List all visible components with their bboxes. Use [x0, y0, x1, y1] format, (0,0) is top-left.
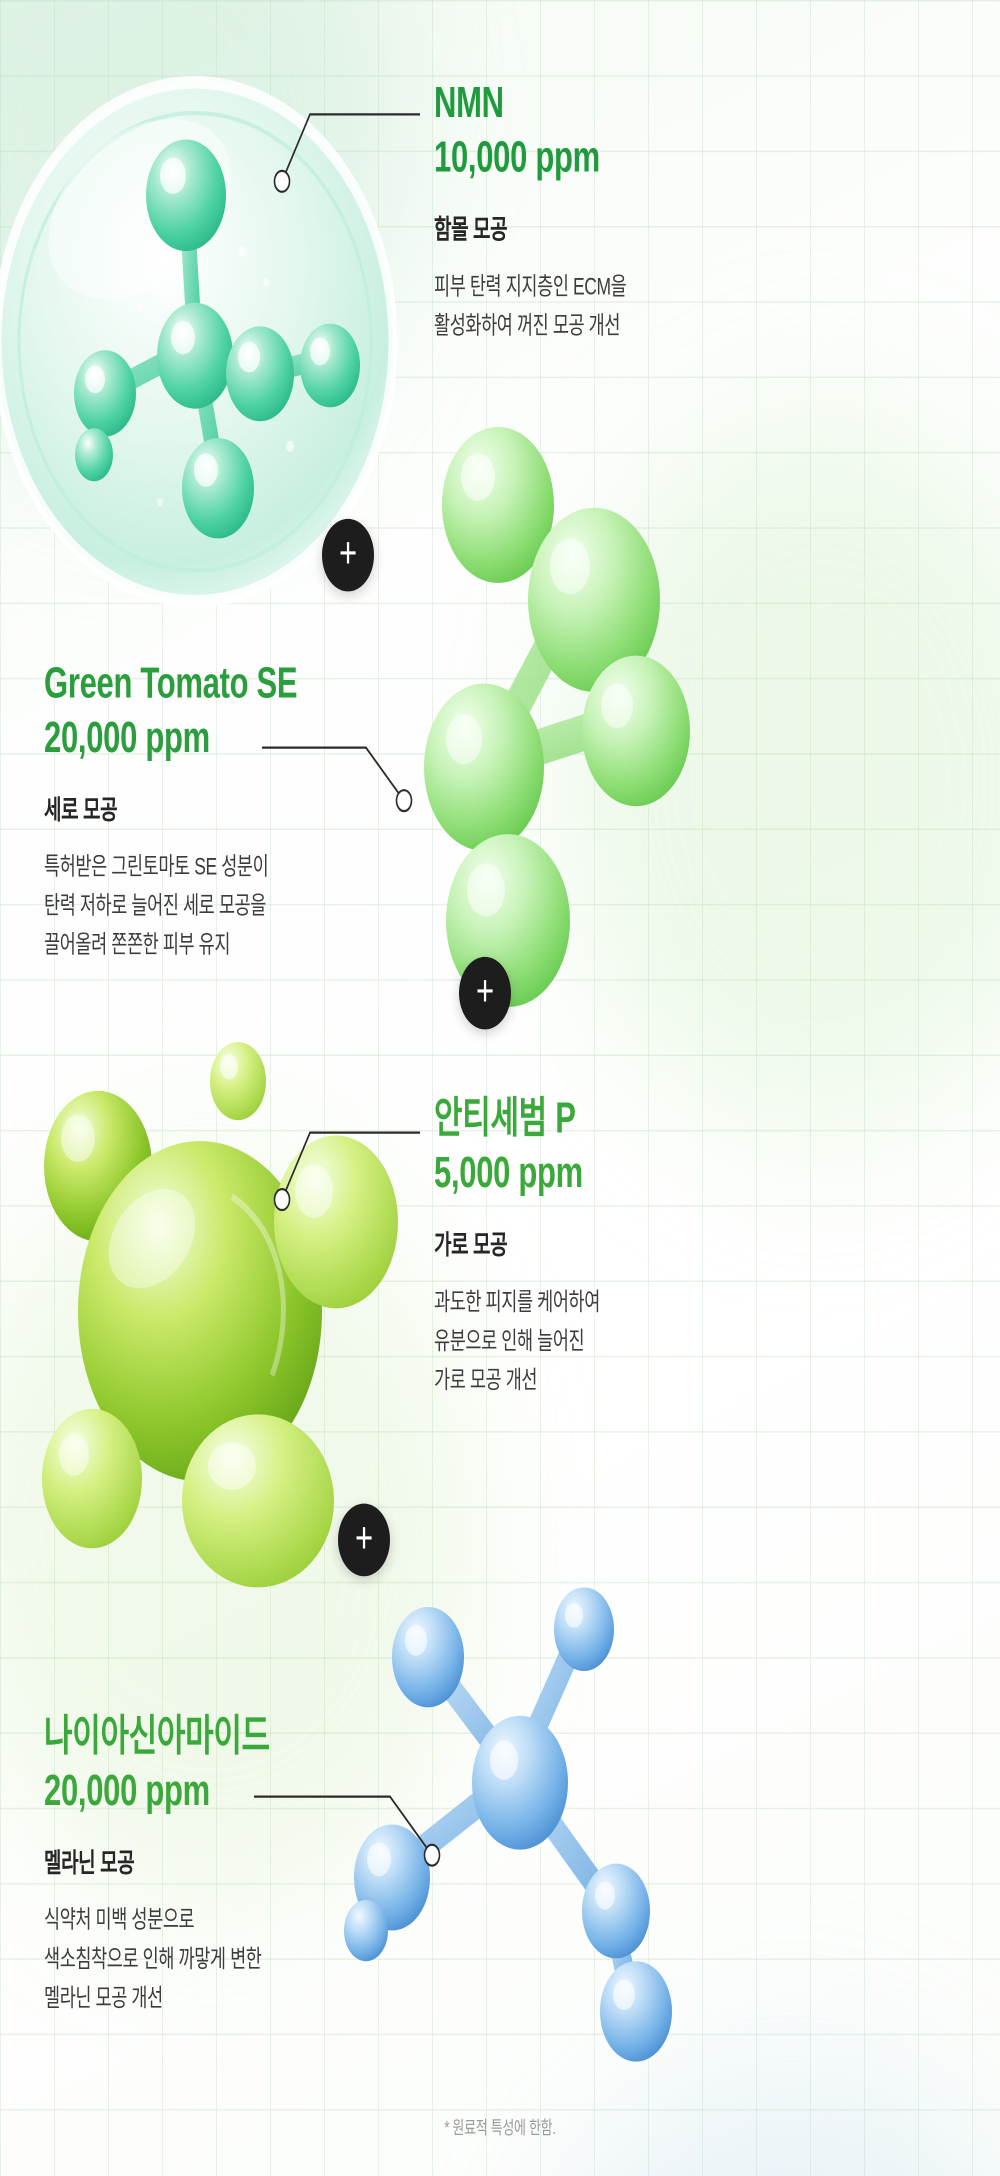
nmn-leader-line	[268, 86, 428, 198]
section-niacinamide-description: 식약처 미백 성분으로 색소침착으로 인해 까맣게 변한 멜라닌 모공 개선	[44, 1900, 424, 2019]
background-wash-top	[0, 0, 400, 446]
section-green-tomato-subtitle: 세로 모공	[44, 795, 404, 829]
plus-divider-1: +	[322, 519, 374, 592]
section-niacinamide-subtitle: 멜라닌 모공	[44, 1848, 424, 1882]
green-tomato-molecule-image	[378, 418, 708, 1032]
background-wash-mid	[560, 418, 1000, 1143]
section-green-tomato-description: 특허받은 그린토마토 SE 성분이 탄력 저하로 늘어진 세로 모공을 끌어올려…	[44, 846, 404, 965]
section-green-tomato-title: Green Tomato SE 20,000 ppm	[44, 656, 404, 765]
section-nmn-title: NMN 10,000 ppm	[434, 75, 764, 184]
infographic-page: NMN 10,000 ppm 함몰 모공 피부 탄력 지지층인 ECM을 활성화…	[0, 0, 1000, 2176]
footnote: * 원료적 특성에 한함.	[0, 2113, 1000, 2140]
section-nmn-subtitle: 함몰 모공	[434, 215, 764, 249]
section-nmn-description: 피부 탄력 지지층인 ECM을 활성화하여 꺼진 모공 개선	[434, 266, 764, 345]
section-niacinamide: 나이아신아마이드 20,000 ppm 멜라닌 모공 식약처 미백 성분으로 색…	[44, 1709, 424, 2018]
section-anti-sebum-description: 과도한 피지를 케어하여 유분으로 인해 늘어진 가로 모공 개선	[434, 1282, 774, 1401]
section-anti-sebum-title: 안티세범 P 5,000 ppm	[434, 1091, 774, 1200]
section-green-tomato: Green Tomato SE 20,000 ppm 세로 모공 특허받은 그린…	[44, 656, 404, 965]
plus-icon: +	[355, 1516, 373, 1559]
plus-divider-3: +	[338, 1504, 390, 1577]
plus-icon: +	[339, 531, 357, 574]
anti-sebum-leader-line	[268, 1105, 428, 1217]
section-anti-sebum-subtitle: 가로 모공	[434, 1230, 774, 1264]
section-niacinamide-title: 나이아신아마이드 20,000 ppm	[44, 1709, 424, 1818]
section-nmn: NMN 10,000 ppm 함몰 모공 피부 탄력 지지층인 ECM을 활성화…	[434, 75, 764, 345]
section-anti-sebum: 안티세범 P 5,000 ppm 가로 모공 과도한 피지를 케어하여 유분으로…	[434, 1091, 774, 1400]
plus-icon: +	[476, 969, 494, 1012]
plus-divider-2: +	[459, 957, 511, 1030]
